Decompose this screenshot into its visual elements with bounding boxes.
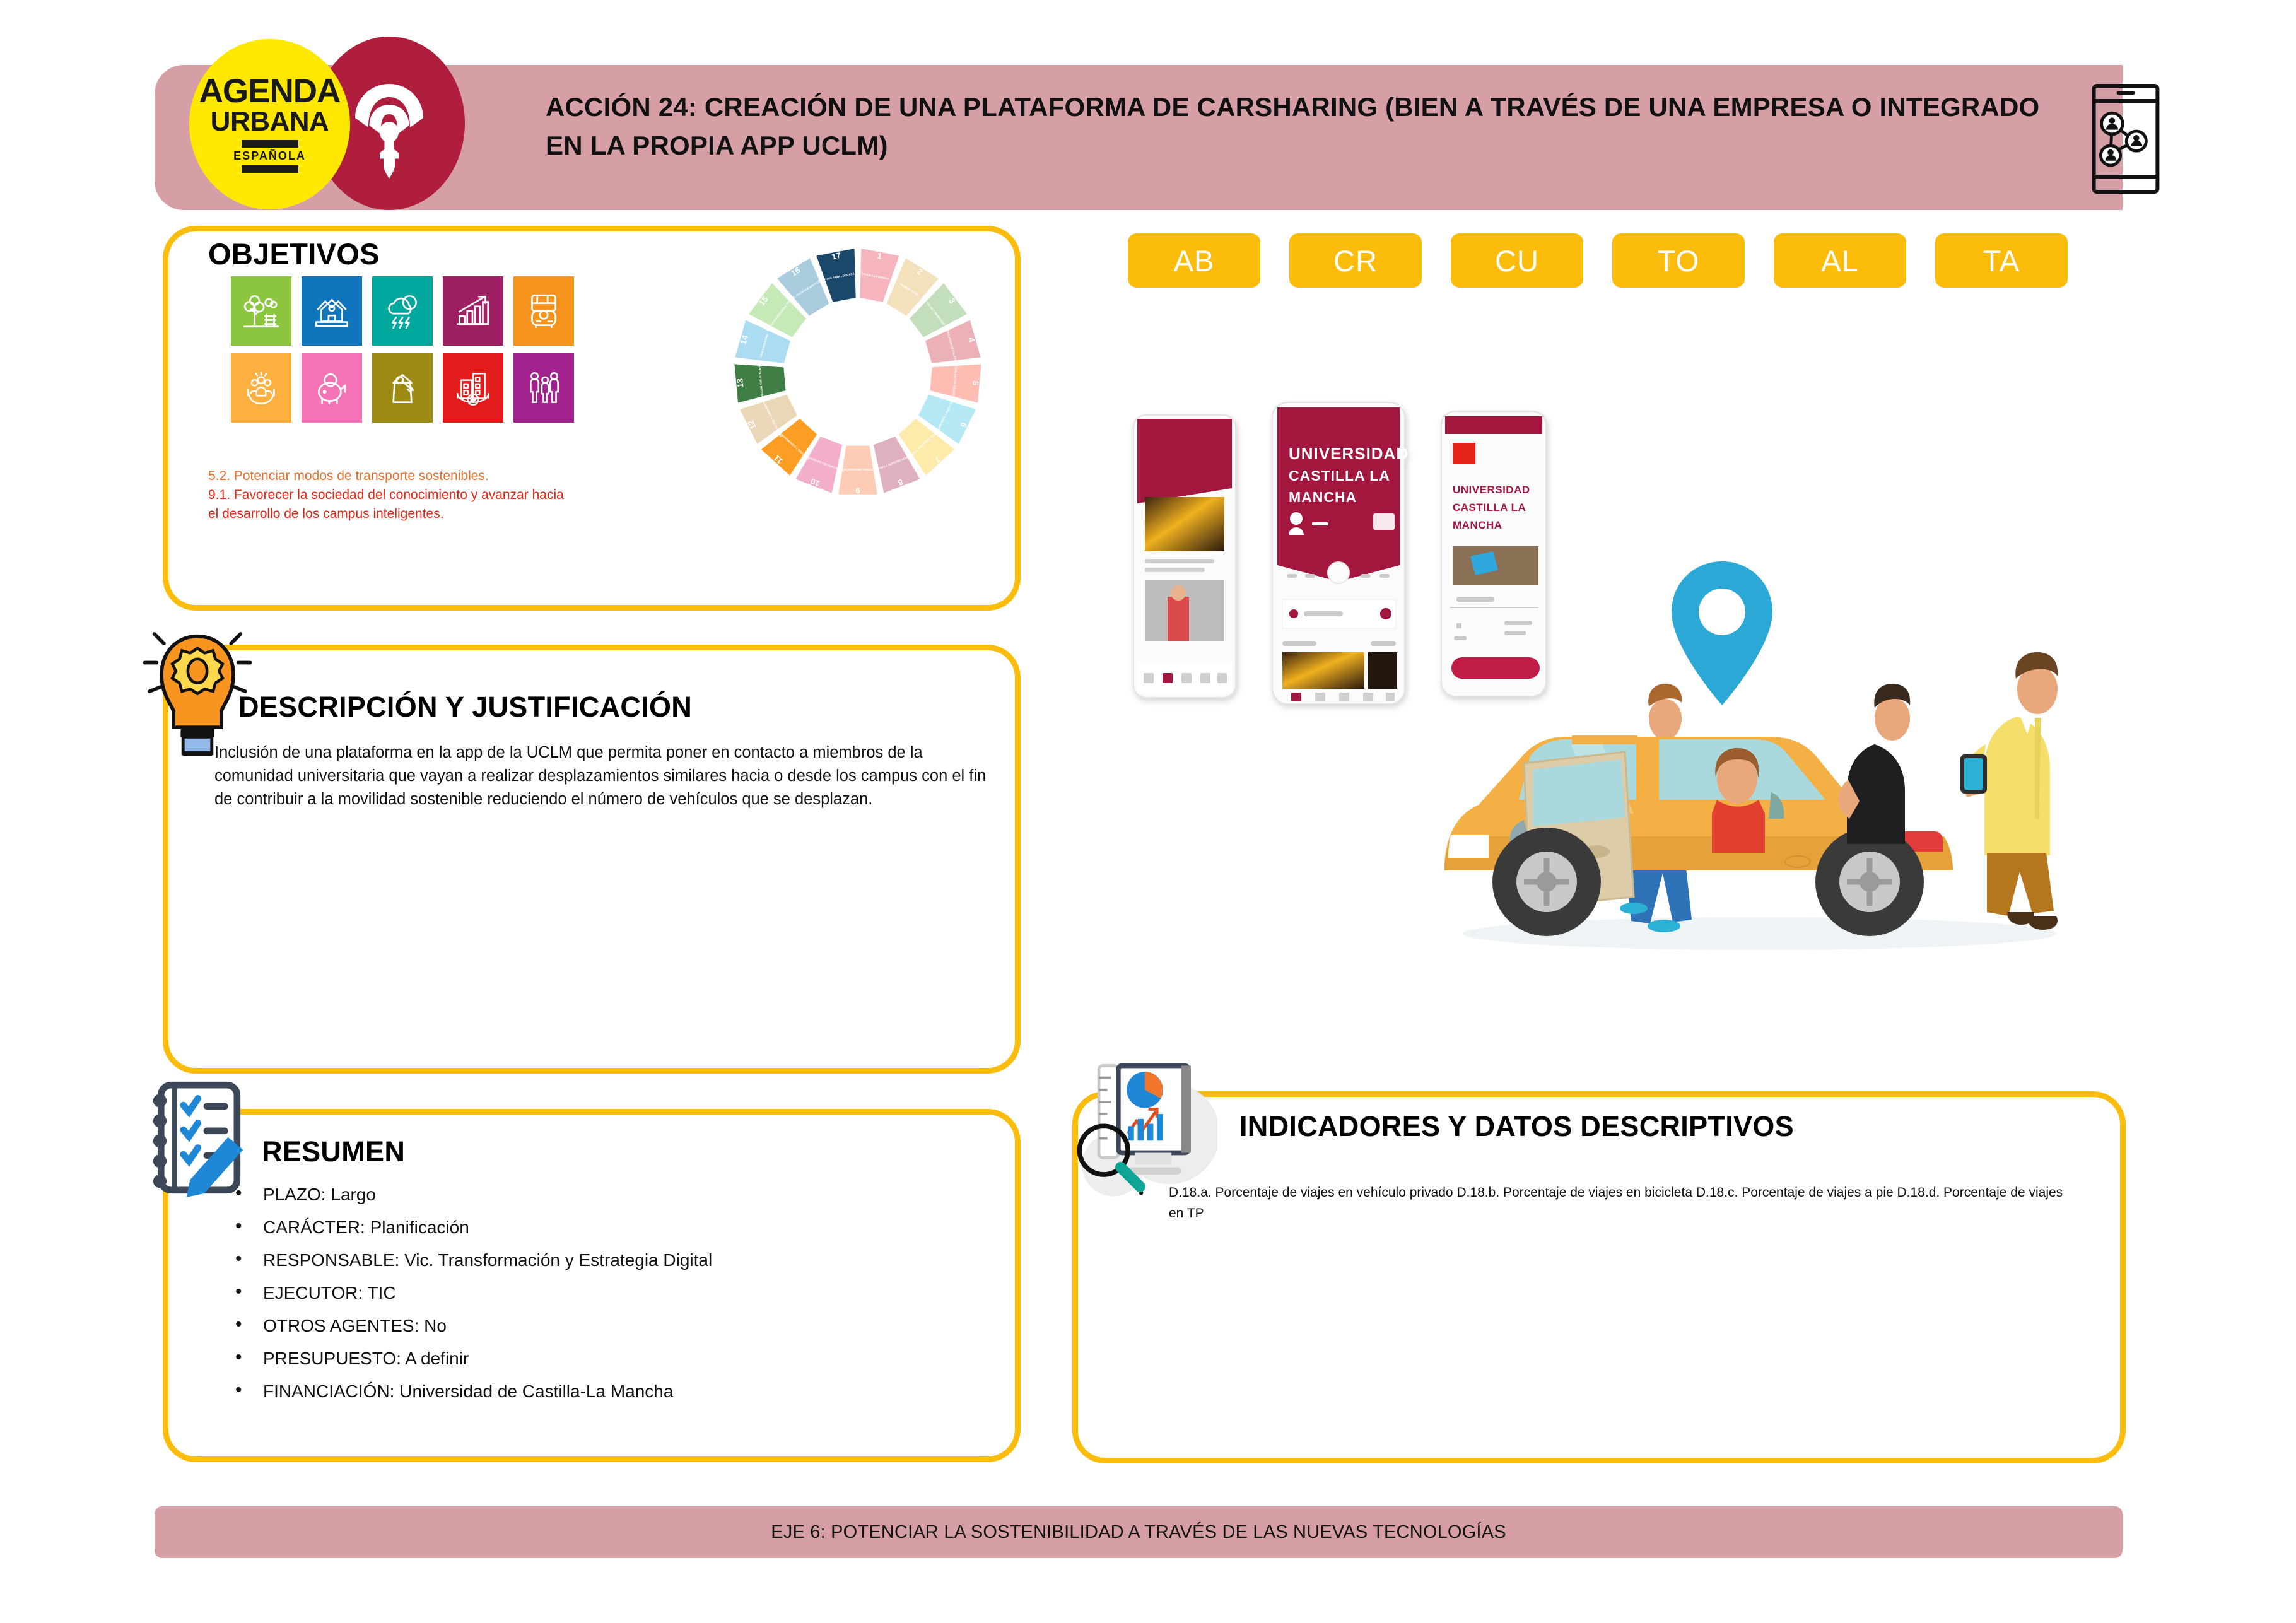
objetivo-icon-buildings-media — [443, 353, 503, 423]
descripcion-title: DESCRIPCIÓN Y JUSTIFICACIÓN — [238, 691, 692, 724]
objetivo-icon-houses — [302, 276, 362, 346]
svg-text:UNIVERSIDAD: UNIVERSIDAD — [1289, 444, 1409, 463]
list-item: FINANCIACIÓN: Universidad de Castilla-La… — [230, 1383, 987, 1400]
list-item: PLAZO: Largo — [230, 1186, 987, 1204]
campus-badge-al[interactable]: AL — [1774, 233, 1906, 288]
svg-text:CASTILLA LA: CASTILLA LA — [1289, 467, 1390, 484]
list-item: EJECUTOR: TIC — [230, 1284, 987, 1302]
person-black-tee — [1838, 684, 1910, 844]
objetivo-icon-growth-chart — [443, 276, 503, 346]
objetivo-icon-piggy-bank — [302, 353, 362, 423]
svg-text:CASTILLA LA: CASTILLA LA — [1453, 501, 1526, 513]
lightbulb-gear-icon — [138, 626, 257, 759]
list-item: RESPONSABLE: Vic. Transformación y Estra… — [230, 1251, 987, 1269]
logo-divider-bottom — [242, 165, 298, 173]
objetivo-line-1: 5.2. Potenciar modos de transporte soste… — [208, 467, 700, 486]
list-item: D.18.a. Porcentaje de viajes en vehículo… — [1132, 1183, 2078, 1224]
campus-badge-to[interactable]: TO — [1612, 233, 1745, 288]
objetivo-icon-tree-park — [231, 276, 291, 346]
poster-page: AGENDA URBANA ESPAÑOLA ACCIÓN 24: CREACI… — [0, 0, 2296, 1623]
person-yellow-shirt — [1960, 652, 2058, 930]
indicadores-list: D.18.a. Porcentaje de viajes en vehículo… — [1132, 1183, 2078, 1224]
svg-text:UNIVERSIDAD: UNIVERSIDAD — [1453, 484, 1530, 496]
objetivo-icon-house-keys — [372, 353, 433, 423]
sdg-segment-number-17: 17 — [831, 250, 841, 261]
carsharing-illustration — [1407, 555, 2145, 965]
wifi-rocket-icon — [342, 67, 436, 180]
objetivo-icon-bus-mobility — [513, 276, 574, 346]
logo-line-3: ESPAÑOLA — [233, 149, 306, 163]
svg-text:MANCHA: MANCHA — [1453, 519, 1502, 531]
agenda-urbana-logo: AGENDA URBANA ESPAÑOLA — [189, 39, 350, 209]
logo-line-2: URBANA — [211, 107, 329, 136]
sdg-segment-number-13: 13 — [735, 378, 745, 388]
sdg-wheel: 1FIN DE LA POBREZA2HAMBRE CERO3SALUD Y B… — [725, 240, 990, 505]
campus-badge-cu[interactable]: CU — [1451, 233, 1583, 288]
objetivos-title: OBJETIVOS — [208, 237, 380, 271]
wheel-front — [1492, 828, 1601, 936]
resumen-title: RESUMEN — [262, 1135, 405, 1168]
objetivo-icon-people-group — [513, 353, 574, 423]
resumen-list: PLAZO: Largo CARÁCTER: Planificación RES… — [230, 1186, 987, 1415]
indicadores-card — [1072, 1091, 2126, 1463]
campus-badge-ab[interactable]: AB — [1128, 233, 1260, 288]
list-item: CARÁCTER: Planificación — [230, 1219, 987, 1236]
logo-divider-top — [242, 140, 298, 148]
monitor-chart-icon — [1072, 1058, 1217, 1204]
descripcion-body: Inclusión de una plataforma en la app de… — [214, 741, 1003, 811]
sdg-segment-number-5: 5 — [971, 380, 981, 386]
footer-text: EJE 6: POTENCIAR LA SOSTENIBILIDAD A TRA… — [771, 1522, 1506, 1543]
phone-left — [1133, 415, 1236, 698]
smartphone-network-icon — [2088, 82, 2164, 196]
list-item: PRESUPUESTO: A definir — [230, 1350, 987, 1368]
svg-text:MANCHA: MANCHA — [1289, 489, 1357, 505]
logo-line-1: AGENDA — [199, 76, 341, 107]
objetivo-icon-hands-people — [231, 353, 291, 423]
page-title: ACCIÓN 24: CREACIÓN DE UNA PLATAFORMA DE… — [546, 88, 2047, 165]
objetivo-icon-storm-cloud — [372, 276, 433, 346]
list-item: OTROS AGENTES: No — [230, 1317, 987, 1335]
notepad-checklist-icon — [140, 1076, 254, 1199]
footer-bar: EJE 6: POTENCIAR LA SOSTENIBILIDAD A TRA… — [155, 1506, 2123, 1558]
objetivo-line-3: el desarrollo de los campus inteligentes… — [208, 505, 700, 524]
objetivo-line-2: 9.1. Favorecer la sociedad del conocimie… — [208, 486, 700, 505]
campus-badge-ta[interactable]: TA — [1935, 233, 2068, 288]
objetivos-icon-grid — [231, 276, 574, 423]
indicadores-title: INDICADORES Y DATOS DESCRIPTIVOS — [1239, 1110, 1794, 1143]
campus-badge-cr[interactable]: CR — [1289, 233, 1422, 288]
objetivos-text-block: 5.2. Potenciar modos de transporte soste… — [208, 467, 700, 523]
phone-center: UNIVERSIDAD CASTILLA LA MANCHA — [1272, 402, 1409, 704]
campus-badges: AB CR CU TO AL TA — [1128, 233, 2068, 288]
sdg-segment-number-9: 9 — [855, 486, 860, 495]
